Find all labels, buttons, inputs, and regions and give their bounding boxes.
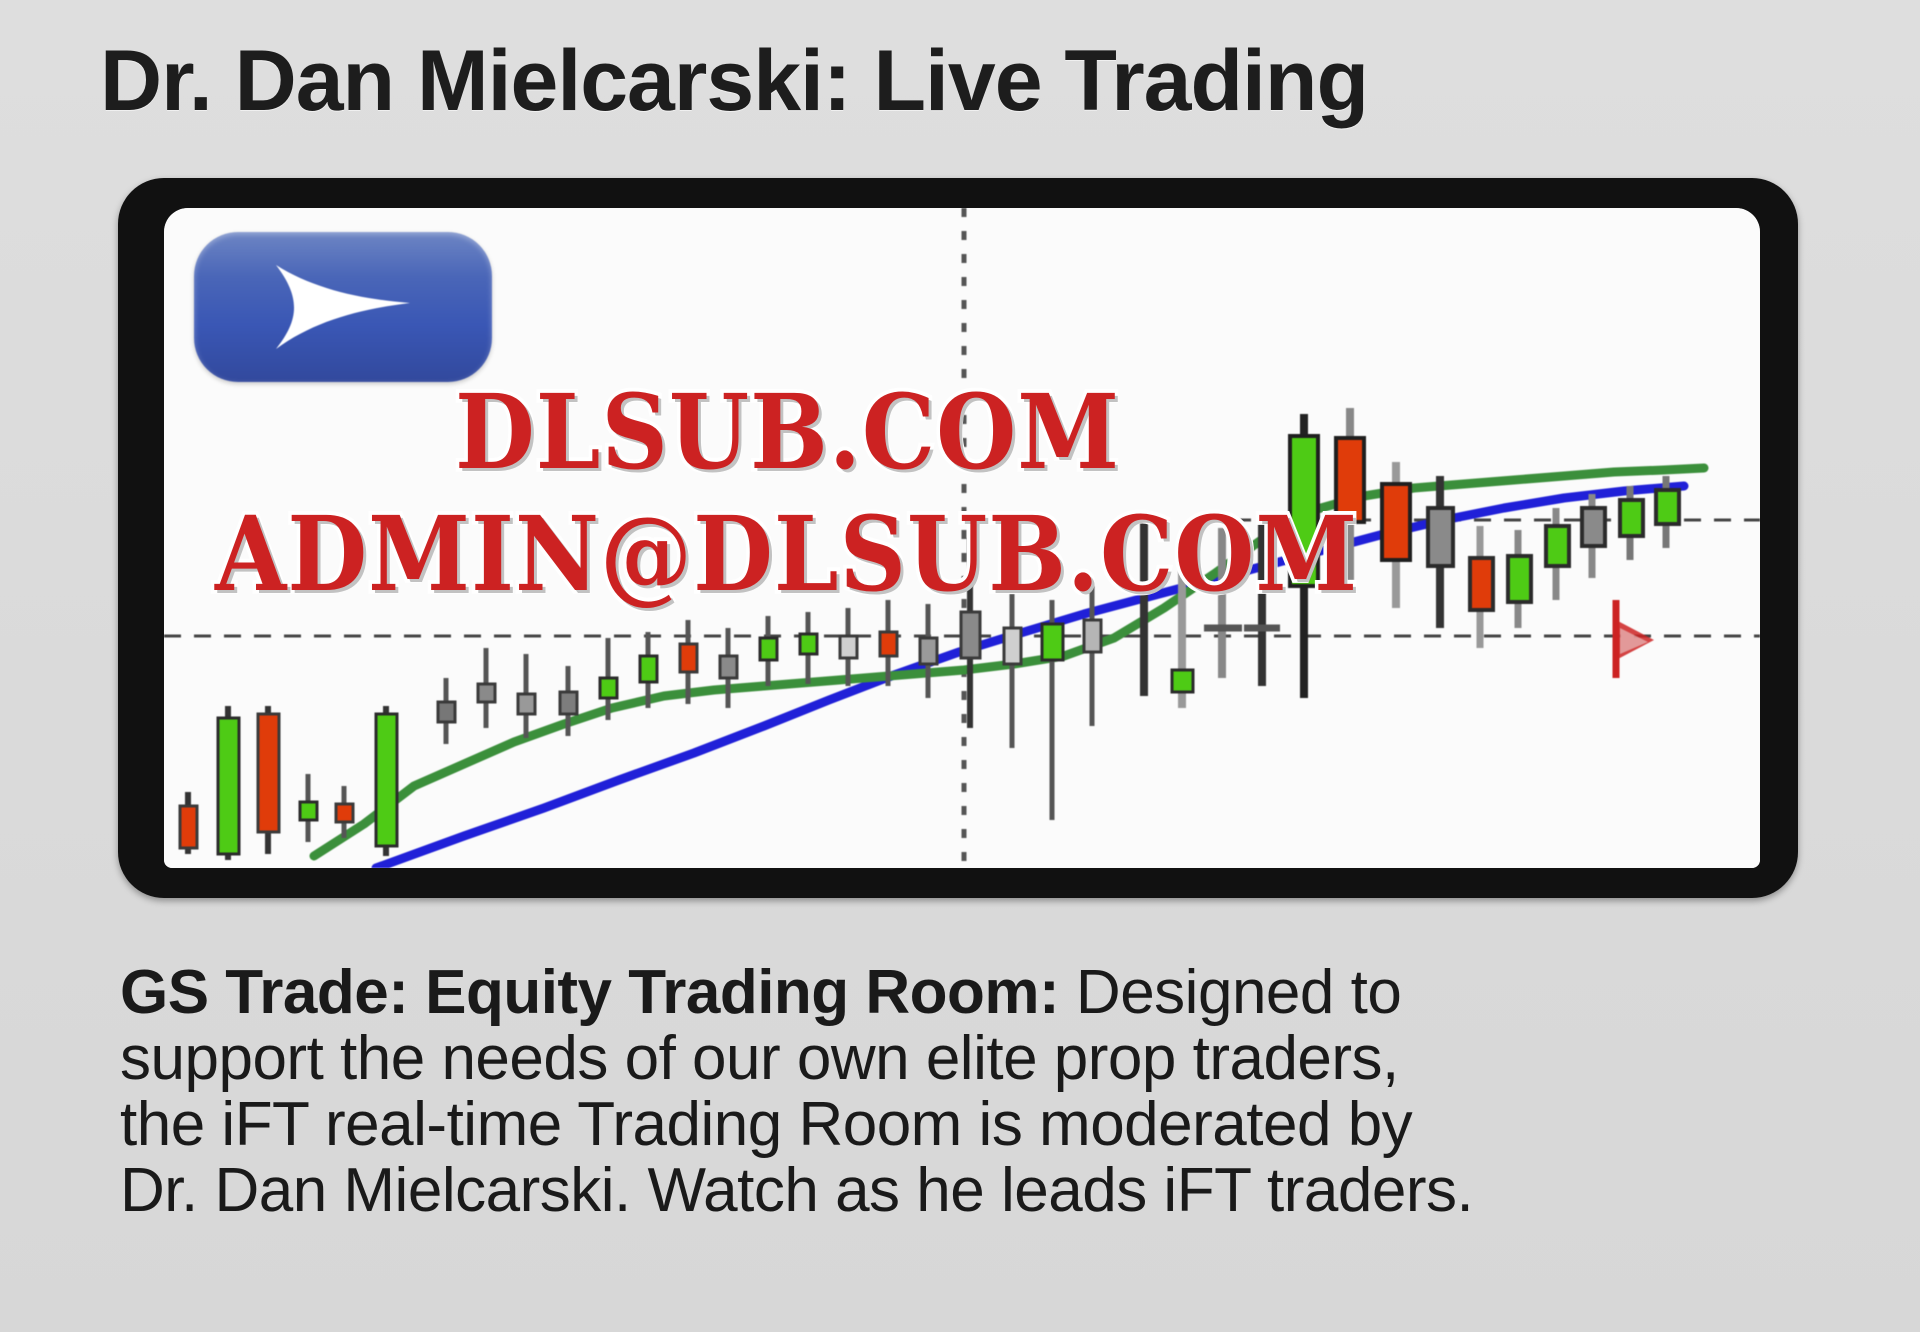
description-line-1: GS Trade: Equity Trading Room: Designed … [120,960,1810,1026]
description-line-4: Dr. Dan Mielcarski. Watch as he leads iF… [120,1158,1810,1224]
video-screen[interactable] [164,208,1760,868]
candle [376,706,397,856]
page-title-text: Dr. Dan Mielcarski: Live Trading [100,26,1840,136]
video-player-frame[interactable] [118,178,1798,898]
candle [258,706,279,854]
play-arrow-icon [268,259,418,355]
description-block: GS Trade: Equity Trading Room: Designed … [120,960,1810,1224]
page-title: Dr. Dan Mielcarski: Live Trading [100,26,1840,136]
promo-card: Dr. Dan Mielcarski: Live Trading [0,0,1920,1332]
play-button[interactable] [194,232,492,382]
description-line-3: the iFT real-time Trading Room is modera… [120,1092,1810,1158]
candle [218,706,239,860]
description-line-1-rest: Designed to [1059,958,1401,1027]
description-line-2: support the needs of our own elite prop … [120,1026,1810,1092]
description-lead: GS Trade: Equity Trading Room: [120,958,1059,1027]
